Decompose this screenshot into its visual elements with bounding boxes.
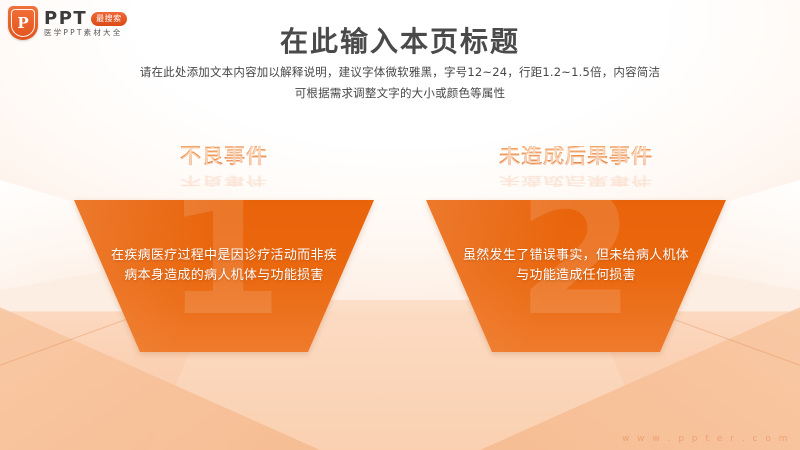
column-heading-reflection: 不良事件: [180, 175, 268, 187]
shield-letter: P: [17, 16, 28, 31]
brand-tagline: 医学PPT素材大全: [44, 29, 127, 37]
site-watermark: w w w . p p t e r . c o m: [622, 434, 790, 444]
column-heading-reflection: 未造成后果事件: [499, 175, 653, 187]
subtitle-line-1: 请在此处添加文本内容加以解释说明，建议字体微软雅黑，字号12~24，行距1.2~…: [0, 62, 800, 83]
trapezoid-card[interactable]: 2 虽然发生了错误事实，但未给病人机体与功能造成任何损害: [426, 200, 726, 352]
brand-wordmark-row: PPT 最搜索: [44, 10, 127, 28]
trapezoid-card[interactable]: 1 在疾病医疗过程中是因诊疗活动而非疾病本身造成的病人机体与功能损害: [74, 200, 374, 352]
page-subtitle: 请在此处添加文本内容加以解释说明，建议字体微软雅黑，字号12~24，行距1.2~…: [0, 62, 800, 105]
brand-logo-text: PPT 最搜索 医学PPT素材大全: [44, 10, 127, 37]
column-heading: 不良事件: [180, 146, 268, 169]
column-adverse-event: 不良事件 不良事件 1 在疾病医疗过程中是因诊疗活动而非疾病本身造成的病人机体与…: [74, 146, 374, 352]
column-heading: 未造成后果事件: [499, 146, 653, 169]
column-no-consequence-event: 未造成后果事件 未造成后果事件 2 虽然发生了错误事实，但未给病人机体与功能造成…: [426, 146, 726, 352]
column-body-text: 虽然发生了错误事实，但未给病人机体与功能造成任何损害: [458, 246, 694, 286]
shield-icon: P: [8, 6, 38, 40]
column-body-text: 在疾病医疗过程中是因诊疗活动而非疾病本身造成的病人机体与功能损害: [106, 246, 342, 286]
brand-logo[interactable]: P PPT 最搜索 医学PPT素材大全: [8, 6, 127, 40]
brand-badge: 最搜索: [91, 12, 127, 26]
slide-canvas: P PPT 最搜索 医学PPT素材大全 在此输入本页标题 请在此处添加文本内容加…: [0, 0, 800, 450]
subtitle-line-2: 可根据需求调整文字的大小或颜色等属性: [0, 83, 800, 104]
content-columns: 不良事件 不良事件 1 在疾病医疗过程中是因诊疗活动而非疾病本身造成的病人机体与…: [0, 146, 800, 352]
brand-wordmark: PPT: [44, 10, 87, 28]
